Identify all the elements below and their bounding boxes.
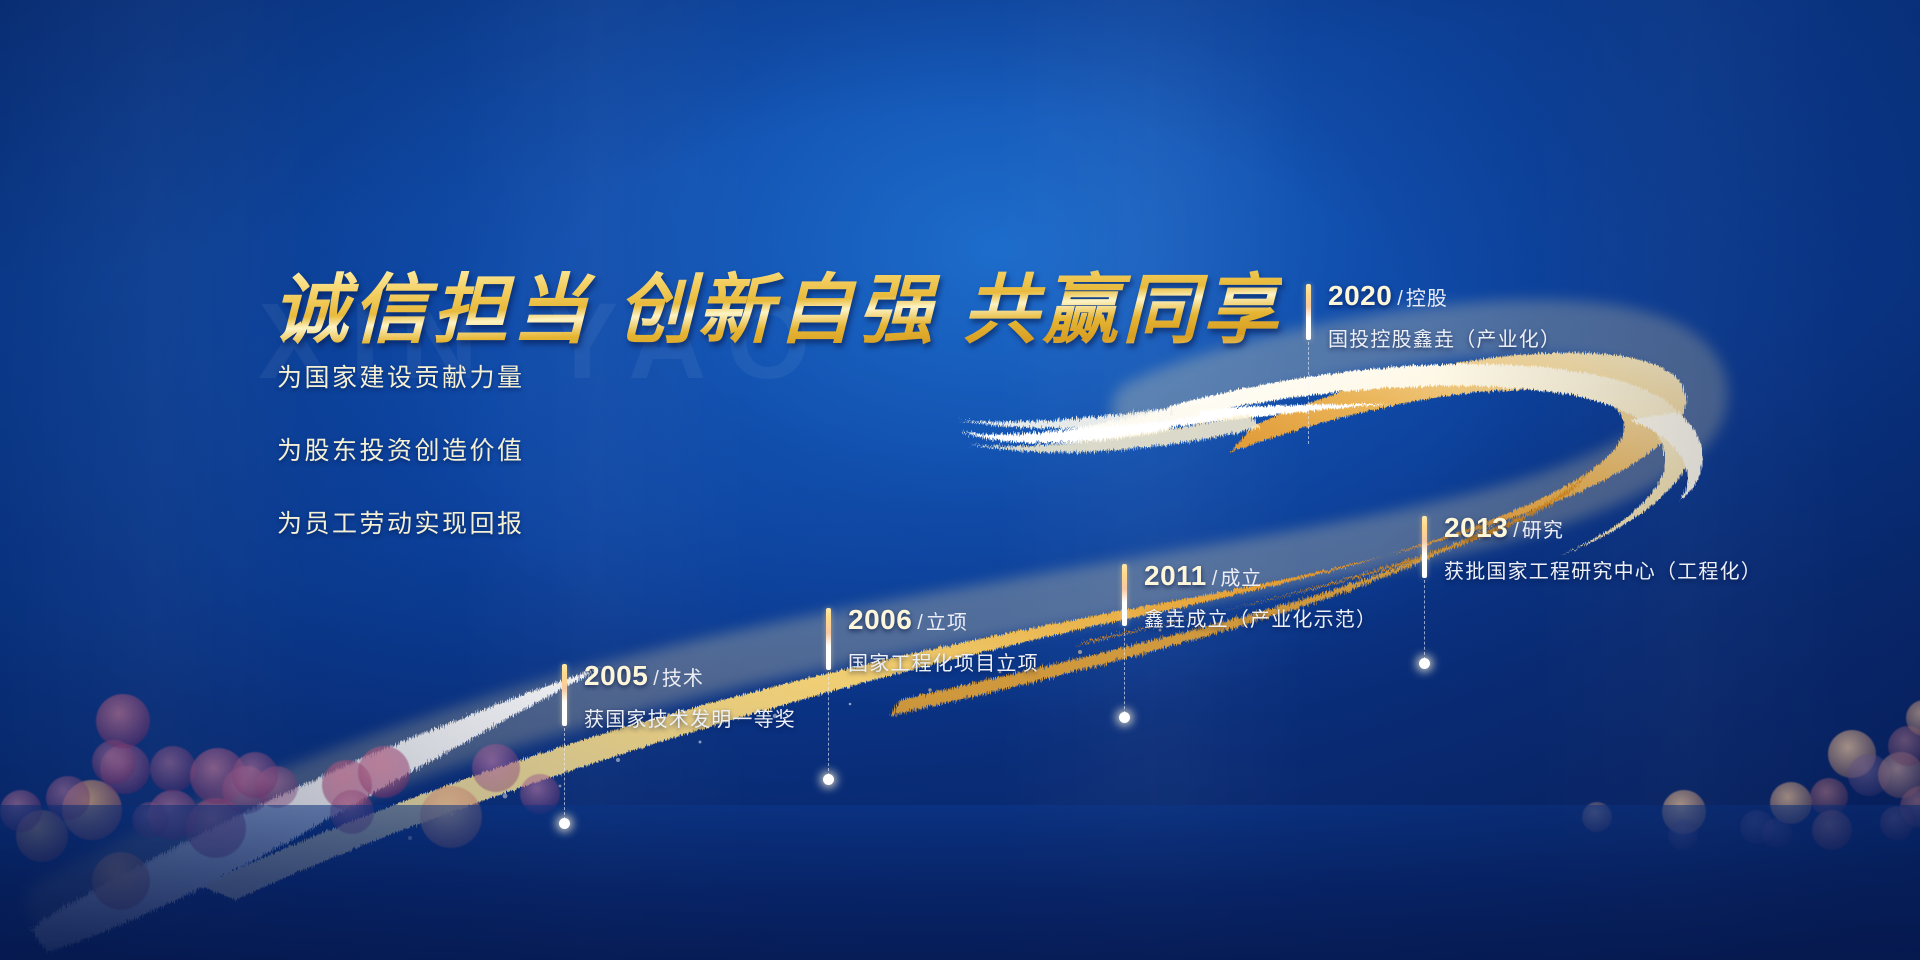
milestone-year: 2020 [1328, 280, 1392, 311]
milestone-year: 2011 [1144, 560, 1207, 591]
subtitle-line-2: 为股东投资创造价值 [277, 431, 525, 467]
milestone-text-block: 2006/立项 国家工程化项目立项 [848, 604, 1039, 676]
milestone-dot [1419, 658, 1430, 669]
subtitle-list: 为国家建设贡献力量 为股东投资创造价值 为员工劳动实现回报 [277, 358, 525, 577]
milestone-year: 2005 [584, 660, 648, 691]
milestone-description: 国投控股鑫垚（产业化） [1328, 323, 1561, 352]
milestone-separator: / [1212, 568, 1218, 590]
milestone-leader-line [564, 728, 565, 820]
milestone-dot [559, 818, 570, 829]
milestone-leader-line [1308, 342, 1309, 444]
milestone-description: 国家工程化项目立项 [848, 647, 1039, 676]
milestone-description: 获国家技术发明一等奖 [584, 703, 796, 732]
milestone-text-block: 2020/控股 国投控股鑫垚（产业化） [1328, 280, 1561, 352]
milestone-keyword: 控股 [1406, 288, 1448, 310]
milestone-keyword: 成立 [1220, 568, 1262, 590]
milestone-leader-line [828, 672, 829, 776]
milestone-keyword: 立项 [926, 612, 968, 634]
milestone-leader-line [1124, 628, 1125, 714]
lower-gradient-band [0, 805, 1920, 960]
subtitle-line-1: 为国家建设贡献力量 [277, 358, 525, 394]
banner-stage: XIN YAO 诚信担当 创新自强 共赢同享 为国家建设贡献力量 为股东投资创造… [0, 0, 1920, 960]
subtitle-line-3: 为员工劳动实现回报 [277, 504, 525, 540]
milestone-accent-bar [1122, 564, 1127, 626]
milestone-keyword: 研究 [1522, 520, 1564, 542]
page-title: 诚信担当 创新自强 共赢同享 [272, 248, 1282, 358]
milestone-year: 2006 [848, 604, 912, 635]
milestone-dot [823, 774, 834, 785]
milestone-separator: / [1513, 520, 1519, 542]
milestone-leader-line [1424, 580, 1425, 660]
milestone-separator: / [917, 612, 923, 634]
milestone-separator: / [1397, 288, 1403, 310]
milestone-keyword: 技术 [662, 668, 704, 690]
milestone-text-block: 2013/研究 获批国家工程研究中心（工程化） [1444, 512, 1762, 584]
milestone-year: 2013 [1444, 512, 1508, 543]
milestone-accent-bar [826, 608, 831, 670]
milestone-accent-bar [1306, 284, 1311, 340]
milestone-text-block: 2011/成立 鑫垚成立（产业化示范） [1144, 560, 1377, 632]
milestone-separator: / [653, 668, 659, 690]
milestone-accent-bar [1422, 516, 1427, 578]
milestone-text-block: 2005/技术 获国家技术发明一等奖 [584, 660, 796, 732]
milestone-dot [1119, 712, 1130, 723]
milestone-accent-bar [562, 664, 567, 726]
milestone-description: 获批国家工程研究中心（工程化） [1444, 555, 1762, 584]
milestone-description: 鑫垚成立（产业化示范） [1144, 603, 1377, 632]
